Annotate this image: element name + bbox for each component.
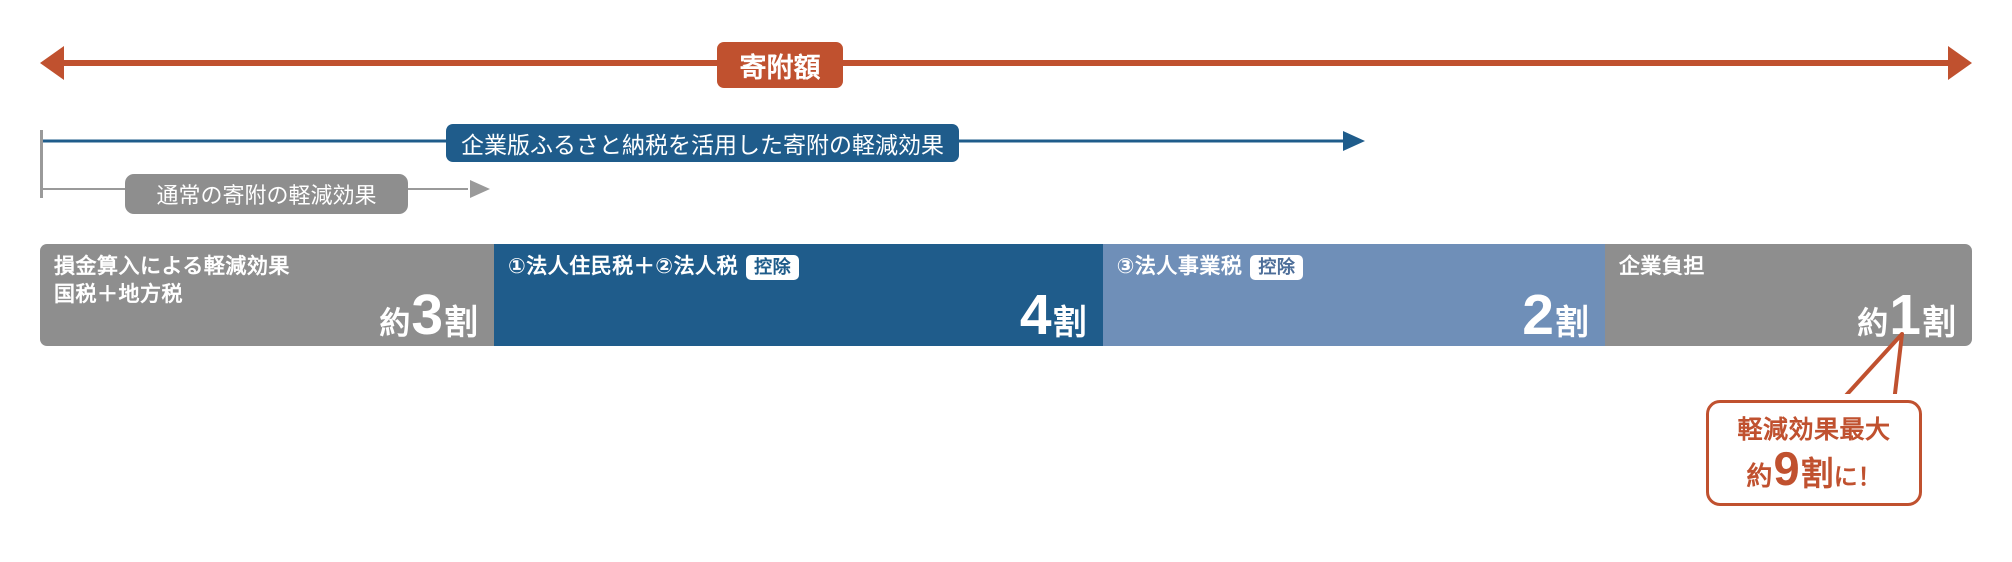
segment-title-corporate-residence-and-corporate-tax: ①法人住民税＋②法人税 控除 (508, 254, 799, 280)
total-donation-label: 寄附額 (717, 42, 843, 88)
total-donation-arrow (40, 44, 1972, 82)
callout-number: 9 (1772, 445, 1800, 492)
segment-value-suffix: 割 (1555, 295, 1589, 344)
corporate-reduction-label-text: 企業版ふるさと納税を活用した寄附の軽減効果 (461, 126, 944, 160)
callout-prefix: 約 (1746, 463, 1772, 489)
bar-segment-corporate-residence-and-corporate-tax: ①法人住民税＋②法人税 控除 4 割 (494, 244, 1103, 346)
segment-value-number: 2 (1521, 288, 1555, 342)
callout-unit: 割 (1801, 457, 1834, 490)
segment-title-loss-inclusion: 損金算入による軽減効果 国税＋地方税 (54, 254, 290, 308)
segment-value-corporate-residence-and-corporate-tax: 4 割 (1019, 288, 1087, 344)
bar-segment-loss-inclusion: 損金算入による軽減効果 国税＋地方税 約 3 割 (40, 244, 494, 346)
segment-value-suffix: 割 (1922, 295, 1956, 344)
total-donation-label-text: 寄附額 (740, 46, 821, 85)
segment-title-line1: ①法人住民税＋②法人税 (508, 254, 738, 280)
total-arrow-head-right (1948, 46, 1972, 80)
corporate-arrow-head (1343, 131, 1365, 151)
diagram-canvas: 寄附額 企業版ふるさと納税を活用した寄附の軽減効果 通常の寄附の軽減効果 損金算… (0, 0, 2012, 562)
segment-value-suffix: 割 (1053, 295, 1087, 344)
segment-value-suffix: 割 (444, 295, 478, 344)
total-arrow-line (62, 60, 1950, 66)
segment-value-number: 4 (1019, 288, 1053, 342)
segment-title-company-burden: 企業負担 (1619, 254, 1705, 280)
segment-title-line1: 損金算入による軽減効果 (54, 254, 290, 280)
normal-reduction-label-text: 通常の寄附の軽減効果 (156, 178, 376, 210)
segment-value-number: 3 (410, 288, 444, 342)
normal-reduction-label: 通常の寄附の軽減効果 (125, 174, 408, 214)
bar-segment-corporate-enterprise-tax: ③法人事業税 控除 2 割 (1103, 244, 1605, 346)
callout-line1: 軽減効果最大 (1737, 415, 1890, 445)
bar-segment-company-burden: 企業負担 約 1 割 (1605, 244, 1972, 346)
segment-title-line2: 国税＋地方税 (54, 282, 183, 308)
segment-value-corporate-enterprise-tax: 2 割 (1521, 288, 1589, 344)
callout-line2: 約 9 割 に！ (1746, 445, 1881, 492)
corporate-reduction-label: 企業版ふるさと納税を活用した寄附の軽減効果 (446, 124, 959, 162)
segment-title-corporate-enterprise-tax: ③法人事業税 控除 (1117, 254, 1304, 280)
normal-arrow-head (470, 180, 490, 198)
callout-pointer-icon (1806, 332, 1916, 410)
max-reduction-callout: 軽減効果最大 約 9 割 に！ (1706, 400, 1922, 506)
segment-value-loss-inclusion: 約 3 割 (379, 288, 478, 344)
segment-title-line1: ③法人事業税 (1117, 254, 1243, 280)
tax-breakdown-bar: 損金算入による軽減効果 国税＋地方税 約 3 割 ①法人住民税＋②法人税 控除 … (40, 244, 1972, 346)
callout-tail-text: に！ (1834, 466, 1882, 490)
segment-badge-deduction: 控除 (746, 255, 799, 280)
segment-badge-deduction: 控除 (1250, 255, 1303, 280)
total-arrow-head-left (40, 46, 64, 80)
segment-value-prefix: 約 (379, 298, 410, 343)
segment-title-line1: 企業負担 (1619, 254, 1705, 280)
